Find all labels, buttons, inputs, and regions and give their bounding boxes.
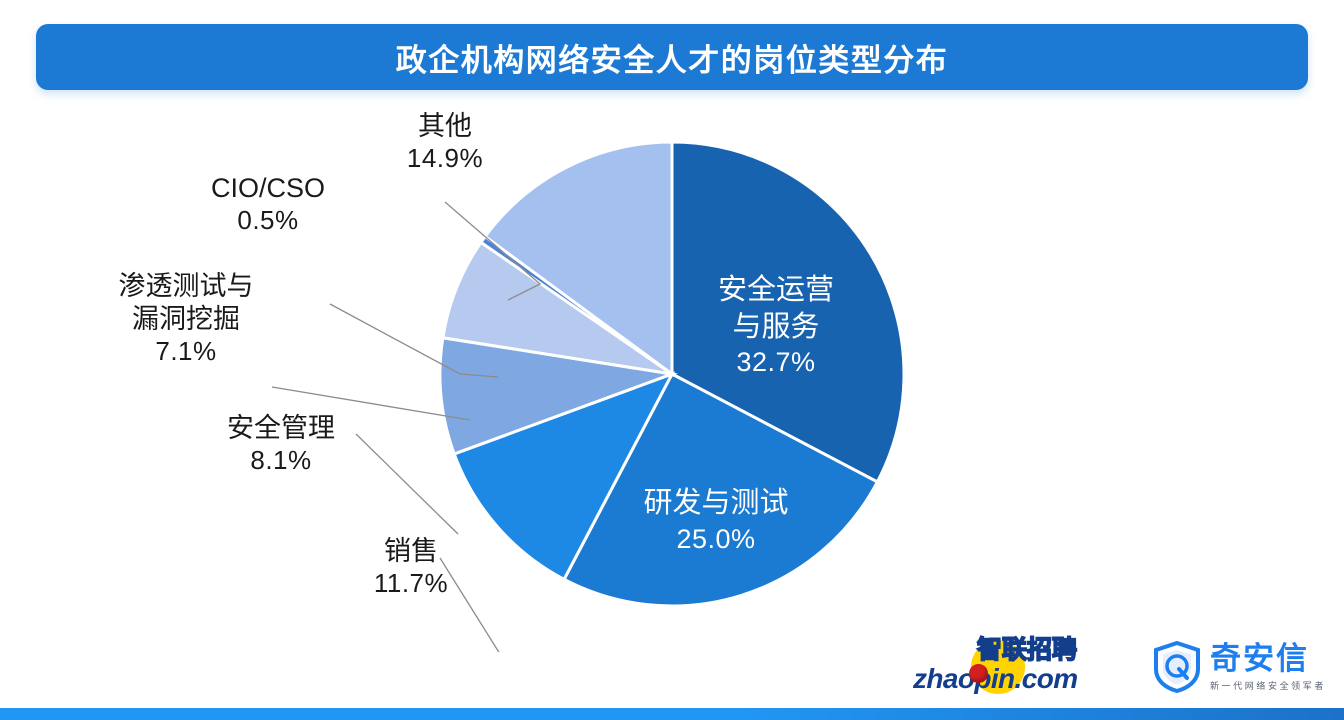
callout-pentest-label-line1: 渗透测试与 <box>96 270 276 303</box>
callout-sales: 销售 11.7% <box>356 535 466 600</box>
inner-label-security-ops: 安全运营 与服务 32.7% <box>678 272 874 379</box>
callout-cio-cso-label: CIO/CSO <box>198 172 338 205</box>
callout-pentest-value: 7.1% <box>96 336 276 368</box>
bottom-accent-bar <box>0 708 1344 720</box>
inner-label-security-ops-value: 32.7% <box>678 345 874 379</box>
callout-security-mgmt-value: 8.1% <box>206 445 356 477</box>
qianxin-tagline: 新一代网络安全领军者 <box>1210 679 1326 692</box>
zhaopin-cn-name: 智联招聘 <box>977 638 1077 663</box>
chart-page: 政企机构网络安全人才的岗位类型分布 其他 14.9% CIO/CSO 0.5% … <box>0 0 1344 720</box>
callout-other: 其他 14.9% <box>380 110 510 175</box>
leader-line-security-mgmt <box>356 434 458 534</box>
footer-logos: 智联招聘 zhaopin.com 奇安信 新一代网络安全领军者 <box>913 636 1326 698</box>
qianxin-logo: 奇安信 新一代网络安全领军者 <box>1153 639 1326 695</box>
inner-label-rnd-test: 研发与测试 25.0% <box>620 485 812 556</box>
pie-chart-area: 其他 14.9% CIO/CSO 0.5% 渗透测试与 漏洞挖掘 7.1% 安全… <box>0 92 1344 652</box>
zhaopin-logo: 智联招聘 zhaopin.com <box>913 638 1109 696</box>
callout-cio-cso-value: 0.5% <box>198 205 338 237</box>
callout-security-mgmt-label: 安全管理 <box>206 412 356 445</box>
callout-pentest: 渗透测试与 漏洞挖掘 7.1% <box>96 270 276 368</box>
callout-sales-label: 销售 <box>356 535 466 568</box>
shield-icon <box>1153 641 1201 693</box>
inner-label-security-ops-line1: 安全运营 <box>678 272 874 309</box>
callout-other-label: 其他 <box>380 110 510 143</box>
callout-sales-value: 11.7% <box>356 568 466 600</box>
inner-label-security-ops-line2: 与服务 <box>678 309 874 346</box>
qianxin-text-block: 奇安信 新一代网络安全领军者 <box>1210 643 1326 692</box>
callout-cio-cso: CIO/CSO 0.5% <box>198 172 338 237</box>
callout-other-value: 14.9% <box>380 143 510 175</box>
qianxin-cn-name: 奇安信 <box>1210 643 1326 674</box>
inner-label-rnd-test-value: 25.0% <box>620 522 812 556</box>
page-title: 政企机构网络安全人才的岗位类型分布 <box>396 35 949 80</box>
callout-security-mgmt: 安全管理 8.1% <box>206 412 356 477</box>
zhaopin-red-dot-icon <box>969 664 988 683</box>
chart-title-bar: 政企机构网络安全人才的岗位类型分布 <box>36 24 1308 90</box>
inner-label-rnd-test-line1: 研发与测试 <box>620 485 812 522</box>
zhaopin-en-name: zhaopin.com <box>913 665 1078 693</box>
callout-pentest-label-line2: 漏洞挖掘 <box>96 303 276 336</box>
